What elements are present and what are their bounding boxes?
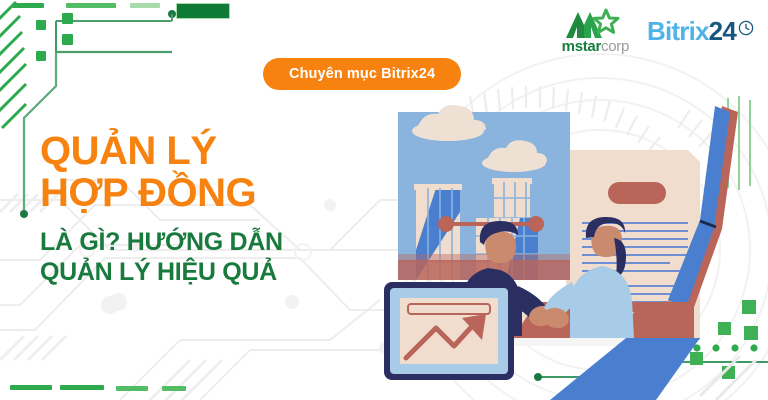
headline-line-2: HỢP ĐỒNG bbox=[40, 172, 283, 214]
mstar-word-primary: mstar bbox=[562, 38, 601, 55]
contract-illustration bbox=[370, 90, 768, 400]
city-buildings-panel bbox=[398, 105, 570, 280]
logo-group: mstarcorp Bitrix24 bbox=[562, 8, 754, 54]
headline-line-3: LÀ GÌ? HƯỚNG DẪN bbox=[40, 227, 283, 258]
bitrix24-wordmark: Bitrix24 bbox=[647, 18, 736, 44]
bitrix24-logo[interactable]: Bitrix24 bbox=[647, 18, 754, 44]
category-badge[interactable]: Chuyên mục Bitrix24 bbox=[263, 58, 461, 90]
mstarcorp-logo[interactable]: mstarcorp bbox=[562, 8, 629, 54]
m-star-icon bbox=[564, 8, 626, 38]
headline-block: QUẢN LÝ HỢP ĐỒNG LÀ GÌ? HƯỚNG DẪN QUẢN L… bbox=[40, 130, 283, 288]
headline-line-1: QUẢN LÝ bbox=[40, 130, 283, 172]
banner-root: mstarcorp Bitrix24 Chuyên mục Bitrix24 Q… bbox=[0, 0, 768, 400]
mstar-word-secondary: corp bbox=[601, 38, 629, 55]
bitrix-word-number: 24 bbox=[709, 16, 736, 46]
clock-icon bbox=[738, 20, 754, 36]
headline-line-4: QUẢN LÝ HIỆU QUẢ bbox=[40, 257, 283, 288]
mstarcorp-wordmark: mstarcorp bbox=[562, 39, 629, 54]
tablet-chart bbox=[384, 282, 514, 380]
bitrix-word-primary: Bitrix bbox=[647, 16, 709, 46]
